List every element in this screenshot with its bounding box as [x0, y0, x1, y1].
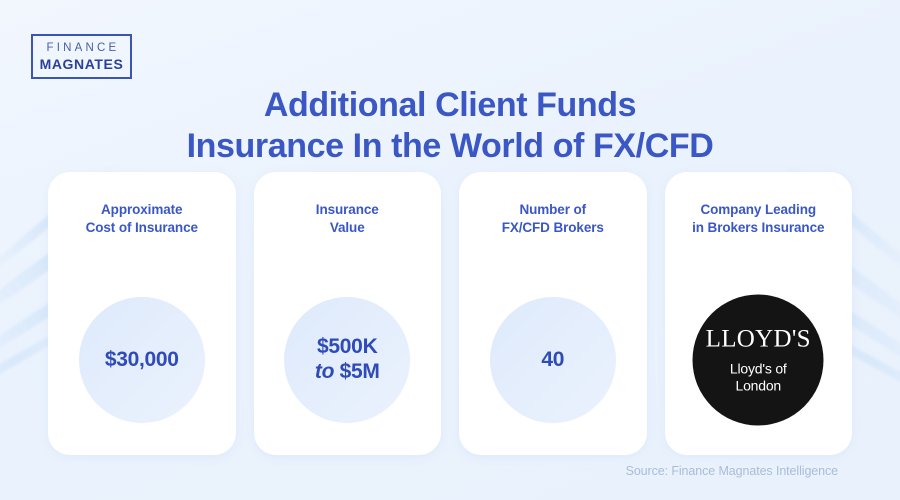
card-title: Approximate Cost of Insurance [80, 201, 204, 237]
card-title: Number of FX/CFD Brokers [496, 201, 610, 237]
logo-text-finance: FINANCE [44, 41, 120, 55]
card-value-range-upper: $5M [340, 360, 380, 383]
card-value-line-1: $30,000 [105, 348, 179, 373]
page-title-line-1: Additional Client Funds [0, 85, 900, 126]
stat-card-broker-count: Number of FX/CFD Brokers 40 [459, 172, 647, 455]
lloyds-logo-badge: LLOYD'S Lloyd's of London [693, 295, 824, 426]
value-bubble: $30,000 [79, 297, 205, 423]
lloyds-subtitle-line-2: London [730, 377, 787, 394]
card-title: Insurance Value [310, 201, 385, 237]
lloyds-wordmark: LLOYD'S [706, 326, 811, 351]
card-title-line-2: Value [316, 219, 379, 237]
card-value: 40 [541, 348, 564, 373]
page-title: Additional Client Funds Insurance In the… [0, 85, 900, 167]
stat-card-insurance-value: Insurance Value $500K to $5M [254, 172, 442, 455]
stat-card-leading-company: Company Leading in Brokers Insurance LLO… [665, 172, 853, 455]
card-title-line-2: Cost of Insurance [86, 219, 198, 237]
card-title: Company Leading in Brokers Insurance [686, 201, 830, 237]
page-title-line-2: Insurance In the World of FX/CFD [0, 126, 900, 167]
card-value-line-1: 40 [541, 348, 564, 373]
card-value-range-connector: to [315, 360, 334, 383]
card-title-line-2: in Brokers Insurance [692, 219, 824, 237]
logo-text-magnates: MAGNATES [40, 56, 124, 72]
card-value-line-2: to $5M [315, 360, 380, 385]
finance-magnates-logo: FINANCE MAGNATES [31, 34, 132, 79]
card-title-line-1: Insurance [316, 201, 379, 219]
card-title-line-2: FX/CFD Brokers [502, 219, 604, 237]
card-value: $500K to $5M [315, 335, 380, 385]
lloyds-subtitle: Lloyd's of London [730, 360, 787, 393]
card-value: $30,000 [105, 348, 179, 373]
infographic-canvas: FINANCE MAGNATES Additional Client Funds… [0, 0, 900, 500]
card-value-line-1: $500K [315, 335, 380, 360]
stat-card-cost-of-insurance: Approximate Cost of Insurance $30,000 [48, 172, 236, 455]
stat-card-row: Approximate Cost of Insurance $30,000 In… [48, 172, 852, 455]
card-title-line-1: Number of [502, 201, 604, 219]
card-title-line-1: Approximate [86, 201, 198, 219]
lloyds-subtitle-line-1: Lloyd's of [730, 360, 787, 377]
value-bubble: $500K to $5M [284, 297, 410, 423]
card-title-line-1: Company Leading [692, 201, 824, 219]
source-attribution: Source: Finance Magnates Intelligence [626, 464, 838, 478]
value-bubble: 40 [490, 297, 616, 423]
